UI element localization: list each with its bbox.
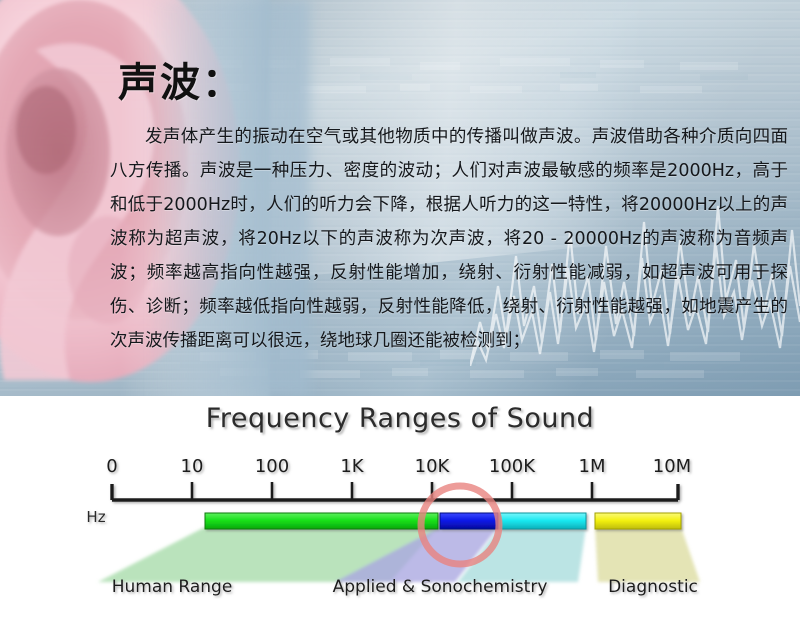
- sound-wave-infographic: 声波： 发声体产生的振动在空气或其他物质中的传播叫做声波。声波借助各种介质向四面…: [0, 0, 800, 618]
- tick-label-10k: 10K: [415, 456, 451, 477]
- bar-diagnostic[interactable]: [595, 513, 681, 529]
- tick-label-1m: 1M: [579, 456, 606, 477]
- range-label-applied-sonochemistry: Applied & Sonochemistry: [333, 577, 548, 597]
- hero-section: 声波： 发声体产生的振动在空气或其他物质中的传播叫做声波。声波借助各种介质向四面…: [0, 0, 800, 396]
- diagnostic-funnel: [595, 527, 700, 582]
- frequency-chart-section: Frequency Ranges of Sound: [0, 396, 800, 618]
- tick-label-10m: 10M: [653, 456, 691, 477]
- axis-unit-label: Hz: [86, 508, 105, 526]
- tick-label-0: 0: [106, 456, 117, 477]
- page-title: 声波：: [118, 50, 244, 108]
- frequency-axis: [112, 482, 678, 500]
- tick-label-100: 100: [255, 456, 289, 477]
- range-label-human: Human Range: [112, 577, 233, 597]
- range-label-diagnostic: Diagnostic: [608, 577, 698, 597]
- tick-label-100k: 100K: [489, 456, 536, 477]
- range-bars: [205, 513, 681, 529]
- bar-applied[interactable]: [440, 513, 498, 529]
- funnel-group: [98, 527, 700, 582]
- frequency-chart-svg: 0 10 100 1K 10K 100K 1M 10M Hz: [0, 396, 800, 618]
- range-labels: Human Range Applied & Sonochemistry Diag…: [112, 577, 698, 597]
- bar-sonochemistry[interactable]: [500, 513, 586, 529]
- hero-paragraph: 发声体产生的振动在空气或其他物质中的传播叫做声波。声波借助各种介质向四面八方传播…: [110, 120, 788, 358]
- hero-paragraph-container: 发声体产生的振动在空气或其他物质中的传播叫做声波。声波借助各种介质向四面八方传播…: [110, 120, 788, 358]
- hero-text-block: 声波： 发声体产生的振动在空气或其他物质中的传播叫做声波。声波借助各种介质向四面…: [0, 0, 800, 396]
- bar-human-range[interactable]: [205, 513, 438, 529]
- axis-tick-labels: 0 10 100 1K 10K 100K 1M 10M: [106, 456, 691, 477]
- tick-label-10: 10: [181, 456, 204, 477]
- tick-label-1k: 1K: [340, 456, 364, 477]
